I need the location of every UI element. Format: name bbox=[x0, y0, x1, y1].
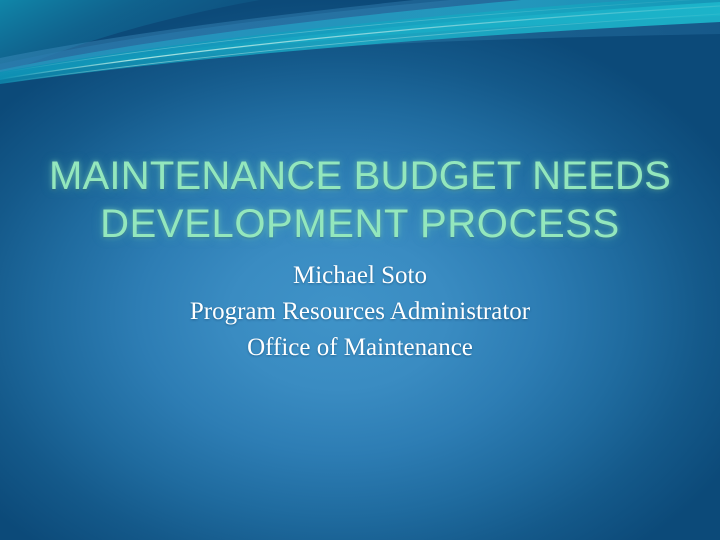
wave-band-blue-soft bbox=[0, 0, 720, 72]
wave-band-blue-dark bbox=[0, 0, 720, 78]
wave-highlight-line-1 bbox=[0, 6, 720, 79]
wave-highlight-line-3 bbox=[0, 0, 720, 73]
wave-band-teal-secondary bbox=[0, 2, 720, 84]
subtitle-presenter-name: Michael Soto bbox=[40, 258, 680, 294]
subtitle-presenter-title: Program Resources Administrator bbox=[40, 294, 680, 330]
presentation-slide: MAINTENANCE BUDGET NEEDS DEVELOPMENT PRO… bbox=[0, 0, 720, 540]
slide-title-line-2: DEVELOPMENT PROCESS bbox=[40, 200, 680, 248]
subtitle-presenter-department: Office of Maintenance bbox=[40, 330, 680, 366]
slide-title: MAINTENANCE BUDGET NEEDS DEVELOPMENT PRO… bbox=[40, 152, 680, 248]
wave-highlight-line-2 bbox=[0, 14, 720, 83]
slide-title-line-1: MAINTENANCE BUDGET NEEDS bbox=[40, 152, 680, 200]
wave-band-teal-main bbox=[0, 0, 720, 80]
wave-glow-topleft bbox=[0, 0, 260, 76]
slide-subtitle: Michael Soto Program Resources Administr… bbox=[40, 258, 680, 366]
